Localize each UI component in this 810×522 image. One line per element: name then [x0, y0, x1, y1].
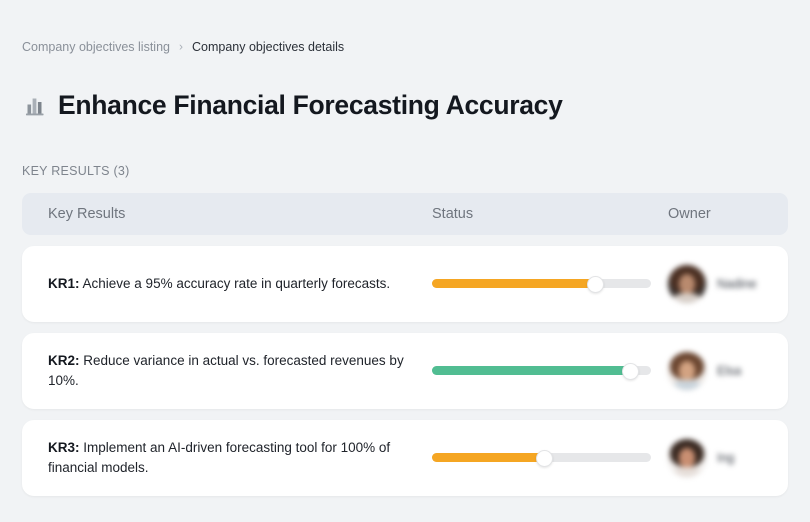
page-root: Company objectives listing › Company obj… — [0, 0, 810, 522]
key-result-description: Reduce variance in actual vs. forecasted… — [48, 353, 404, 388]
column-header-key-results: Key Results — [48, 206, 432, 222]
page-title-row: Enhance Financial Forecasting Accuracy — [22, 71, 788, 139]
progress-fill — [432, 279, 594, 288]
breadcrumb: Company objectives listing › Company obj… — [22, 0, 788, 55]
breadcrumb-link-objectives-listing[interactable]: Company objectives listing — [22, 39, 170, 55]
owner-cell[interactable]: Ing — [668, 439, 788, 477]
owner-name: Nadine — [717, 277, 757, 291]
key-results-table: Key Results Status Owner KR1: Achieve a … — [22, 193, 788, 496]
avatar — [668, 352, 706, 390]
column-header-owner: Owner — [668, 206, 788, 222]
key-result-description: Achieve a 95% accuracy rate in quarterly… — [80, 276, 391, 291]
table-row[interactable]: KR3: Implement an AI-driven forecasting … — [22, 420, 788, 496]
avatar — [668, 439, 706, 477]
key-result-text: KR2: Reduce variance in actual vs. forec… — [48, 351, 432, 391]
breadcrumb-current-objectives-details: Company objectives details — [192, 39, 344, 55]
chevron-right-icon: › — [179, 39, 183, 55]
bar-chart-icon — [22, 93, 48, 119]
table-row[interactable]: KR2: Reduce variance in actual vs. forec… — [22, 333, 788, 409]
progress-fill — [432, 453, 544, 462]
status-cell — [432, 366, 668, 375]
key-result-id: KR2: — [48, 353, 80, 368]
key-result-text: KR1: Achieve a 95% accuracy rate in quar… — [48, 274, 432, 294]
status-cell — [432, 279, 668, 288]
progress-knob[interactable] — [622, 363, 639, 380]
owner-name: Ing — [717, 451, 734, 465]
status-cell — [432, 453, 668, 462]
column-header-status: Status — [432, 206, 668, 222]
progress-knob[interactable] — [536, 450, 553, 467]
progress-knob[interactable] — [587, 276, 604, 293]
avatar — [668, 265, 706, 303]
progress-slider[interactable] — [432, 366, 651, 375]
page-title: Enhance Financial Forecasting Accuracy — [58, 89, 563, 121]
key-result-id: KR3: — [48, 440, 80, 455]
key-results-section-label: KEY RESULTS (3) — [22, 163, 788, 179]
progress-slider[interactable] — [432, 453, 651, 462]
owner-cell[interactable]: Elsa — [668, 352, 788, 390]
table-header-row: Key Results Status Owner — [22, 193, 788, 235]
progress-slider[interactable] — [432, 279, 651, 288]
key-result-description: Implement an AI-driven forecasting tool … — [48, 440, 390, 475]
owner-cell[interactable]: Nadine — [668, 265, 788, 303]
key-result-id: KR1: — [48, 276, 80, 291]
table-row[interactable]: KR1: Achieve a 95% accuracy rate in quar… — [22, 246, 788, 322]
progress-fill — [432, 366, 629, 375]
owner-name: Elsa — [717, 364, 741, 378]
key-result-text: KR3: Implement an AI-driven forecasting … — [48, 438, 432, 478]
